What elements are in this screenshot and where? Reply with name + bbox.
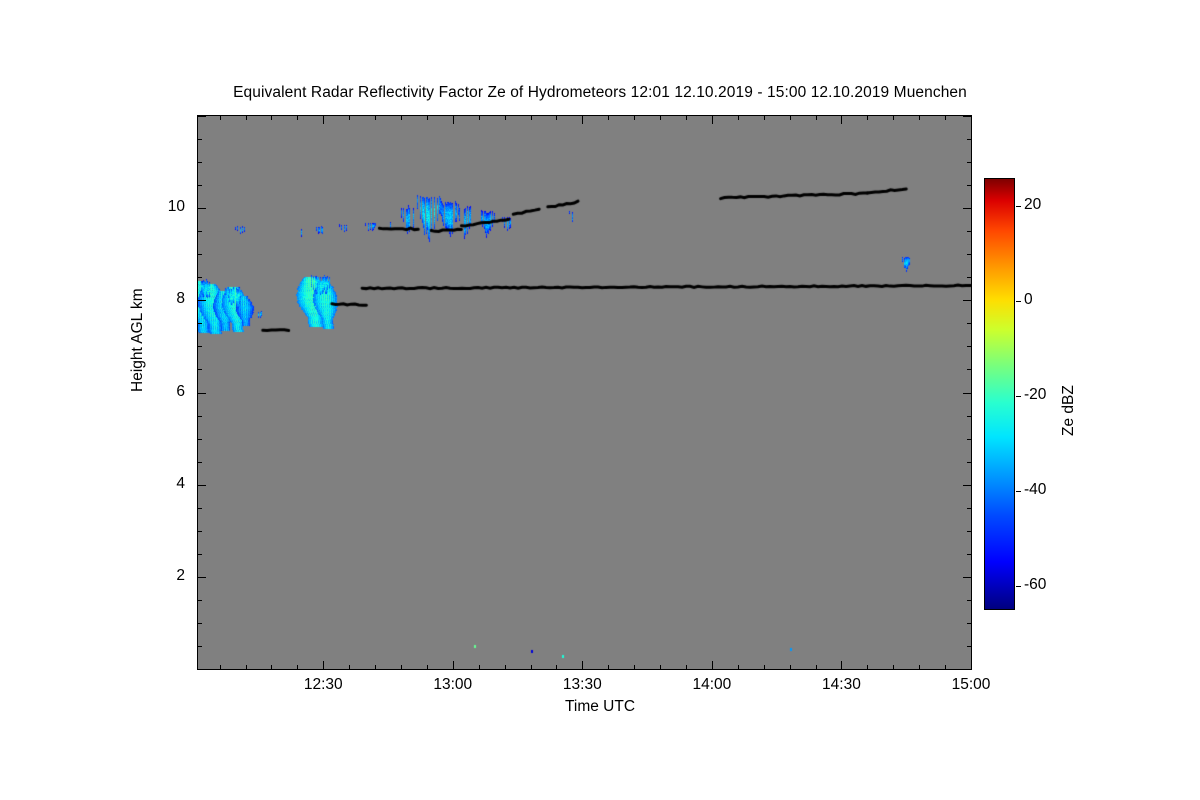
y-axis-title: Height AGL km: [129, 288, 147, 392]
axis-tick: [505, 116, 506, 120]
axis-tick: [919, 665, 920, 669]
axis-tick: [967, 600, 971, 601]
axis-tick: [712, 661, 713, 669]
axis-tick: [198, 346, 202, 347]
axis-tick: [198, 531, 202, 532]
axis-tick: [198, 439, 202, 440]
colorbar-tick: [1016, 396, 1021, 397]
colorbar-tick: [1016, 586, 1021, 587]
colorbar-title: Ze dBZ: [1060, 385, 1078, 436]
axis-tick: [963, 393, 971, 394]
x-tick-label: 14:00: [667, 676, 757, 694]
axis-tick: [401, 665, 402, 669]
axis-tick: [198, 416, 202, 417]
axis-tick: [967, 416, 971, 417]
axis-tick: [198, 300, 206, 301]
axis-tick: [608, 116, 609, 120]
axis-tick: [634, 665, 635, 669]
axis-tick: [401, 116, 402, 120]
axis-tick: [841, 661, 842, 669]
axis-tick: [967, 531, 971, 532]
axis-tick: [198, 554, 202, 555]
axis-tick: [198, 185, 202, 186]
colorbar-tick: [1016, 491, 1021, 492]
axis-tick: [198, 623, 202, 624]
axis-tick: [608, 665, 609, 669]
axis-tick: [967, 185, 971, 186]
axis-tick: [971, 661, 972, 669]
axis-tick: [198, 369, 202, 370]
axis-tick: [967, 623, 971, 624]
axis-tick: [479, 665, 480, 669]
axis-tick: [198, 254, 202, 255]
axis-tick: [867, 665, 868, 669]
axis-tick: [220, 116, 221, 120]
axis-tick: [453, 116, 454, 124]
axis-tick: [967, 646, 971, 647]
axis-tick: [479, 116, 480, 120]
axis-tick: [556, 116, 557, 120]
axis-tick: [764, 665, 765, 669]
axis-tick: [349, 116, 350, 120]
axis-tick: [967, 369, 971, 370]
colorbar-tick: [1016, 301, 1021, 302]
axis-tick: [967, 139, 971, 140]
x-tick-label: 15:00: [926, 676, 1016, 694]
x-axis-title: Time UTC: [0, 698, 1200, 716]
axis-tick: [634, 116, 635, 120]
axis-tick: [297, 665, 298, 669]
axis-tick: [323, 116, 324, 124]
axis-tick: [198, 208, 206, 209]
axis-tick: [198, 162, 202, 163]
axis-tick: [963, 300, 971, 301]
axis-tick: [453, 661, 454, 669]
axis-tick: [945, 116, 946, 120]
axis-tick: [349, 665, 350, 669]
axis-tick: [971, 116, 972, 124]
axis-tick: [963, 485, 971, 486]
axis-tick: [967, 254, 971, 255]
axis-tick: [967, 439, 971, 440]
colorbar-tick-label: 0: [1024, 291, 1033, 309]
axis-tick: [816, 116, 817, 120]
axis-tick: [867, 116, 868, 120]
axis-tick: [790, 116, 791, 120]
axis-tick: [764, 116, 765, 120]
axis-tick: [198, 116, 206, 117]
axis-tick: [712, 116, 713, 124]
axis-tick: [427, 116, 428, 120]
radar-plot-area: [197, 115, 972, 670]
axis-tick: [790, 665, 791, 669]
axis-tick: [738, 116, 739, 120]
colorbar-tick-label: -60: [1024, 576, 1046, 594]
axis-tick: [967, 162, 971, 163]
axis-tick: [198, 323, 202, 324]
x-tick-label: 12:30: [278, 676, 368, 694]
axis-tick: [375, 116, 376, 120]
x-tick-label: 13:00: [408, 676, 498, 694]
axis-tick: [198, 231, 202, 232]
colorbar-tick: [1016, 206, 1021, 207]
axis-tick: [505, 665, 506, 669]
axis-tick: [271, 116, 272, 120]
axis-tick: [198, 462, 202, 463]
axis-tick: [198, 600, 202, 601]
y-tick-label: 2: [125, 567, 185, 585]
axis-tick: [198, 669, 202, 670]
axis-tick: [198, 646, 202, 647]
axis-tick: [323, 661, 324, 669]
axis-tick: [963, 116, 971, 117]
axis-tick: [893, 665, 894, 669]
axis-tick: [246, 665, 247, 669]
axis-tick: [198, 277, 202, 278]
axis-tick: [919, 116, 920, 120]
axis-tick: [198, 577, 206, 578]
axis-tick: [967, 346, 971, 347]
axis-tick: [427, 665, 428, 669]
axis-tick: [297, 116, 298, 120]
axis-tick: [816, 665, 817, 669]
axis-tick: [660, 665, 661, 669]
axis-tick: [738, 665, 739, 669]
axis-tick: [271, 665, 272, 669]
axis-tick: [945, 665, 946, 669]
y-tick-label: 4: [125, 475, 185, 493]
reflectivity-heatmap: [198, 116, 971, 669]
axis-tick: [660, 116, 661, 120]
y-tick-label: 10: [125, 198, 185, 216]
axis-tick: [582, 116, 583, 124]
colorbar-tick-label: 20: [1024, 196, 1041, 214]
axis-tick: [967, 508, 971, 509]
x-tick-label: 13:30: [537, 676, 627, 694]
axis-tick: [198, 508, 202, 509]
axis-tick: [963, 208, 971, 209]
axis-tick: [375, 665, 376, 669]
axis-tick: [963, 577, 971, 578]
axis-tick: [198, 139, 202, 140]
axis-tick: [967, 323, 971, 324]
axis-tick: [531, 116, 532, 120]
axis-tick: [220, 665, 221, 669]
axis-tick: [967, 554, 971, 555]
axis-tick: [198, 485, 206, 486]
axis-tick: [841, 116, 842, 124]
axis-tick: [893, 116, 894, 120]
axis-tick: [531, 665, 532, 669]
colorbar-tick-label: -20: [1024, 386, 1046, 404]
axis-tick: [582, 661, 583, 669]
axis-tick: [967, 231, 971, 232]
axis-tick: [686, 116, 687, 120]
page-title: Equivalent Radar Reflectivity Factor Ze …: [0, 84, 1200, 102]
axis-tick: [686, 665, 687, 669]
colorbar: [984, 178, 1015, 610]
colorbar-tick-label: -40: [1024, 481, 1046, 499]
axis-tick: [967, 669, 971, 670]
axis-tick: [246, 116, 247, 120]
x-tick-label: 14:30: [796, 676, 886, 694]
axis-tick: [967, 277, 971, 278]
axis-tick: [967, 462, 971, 463]
axis-tick: [556, 665, 557, 669]
axis-tick: [198, 393, 206, 394]
